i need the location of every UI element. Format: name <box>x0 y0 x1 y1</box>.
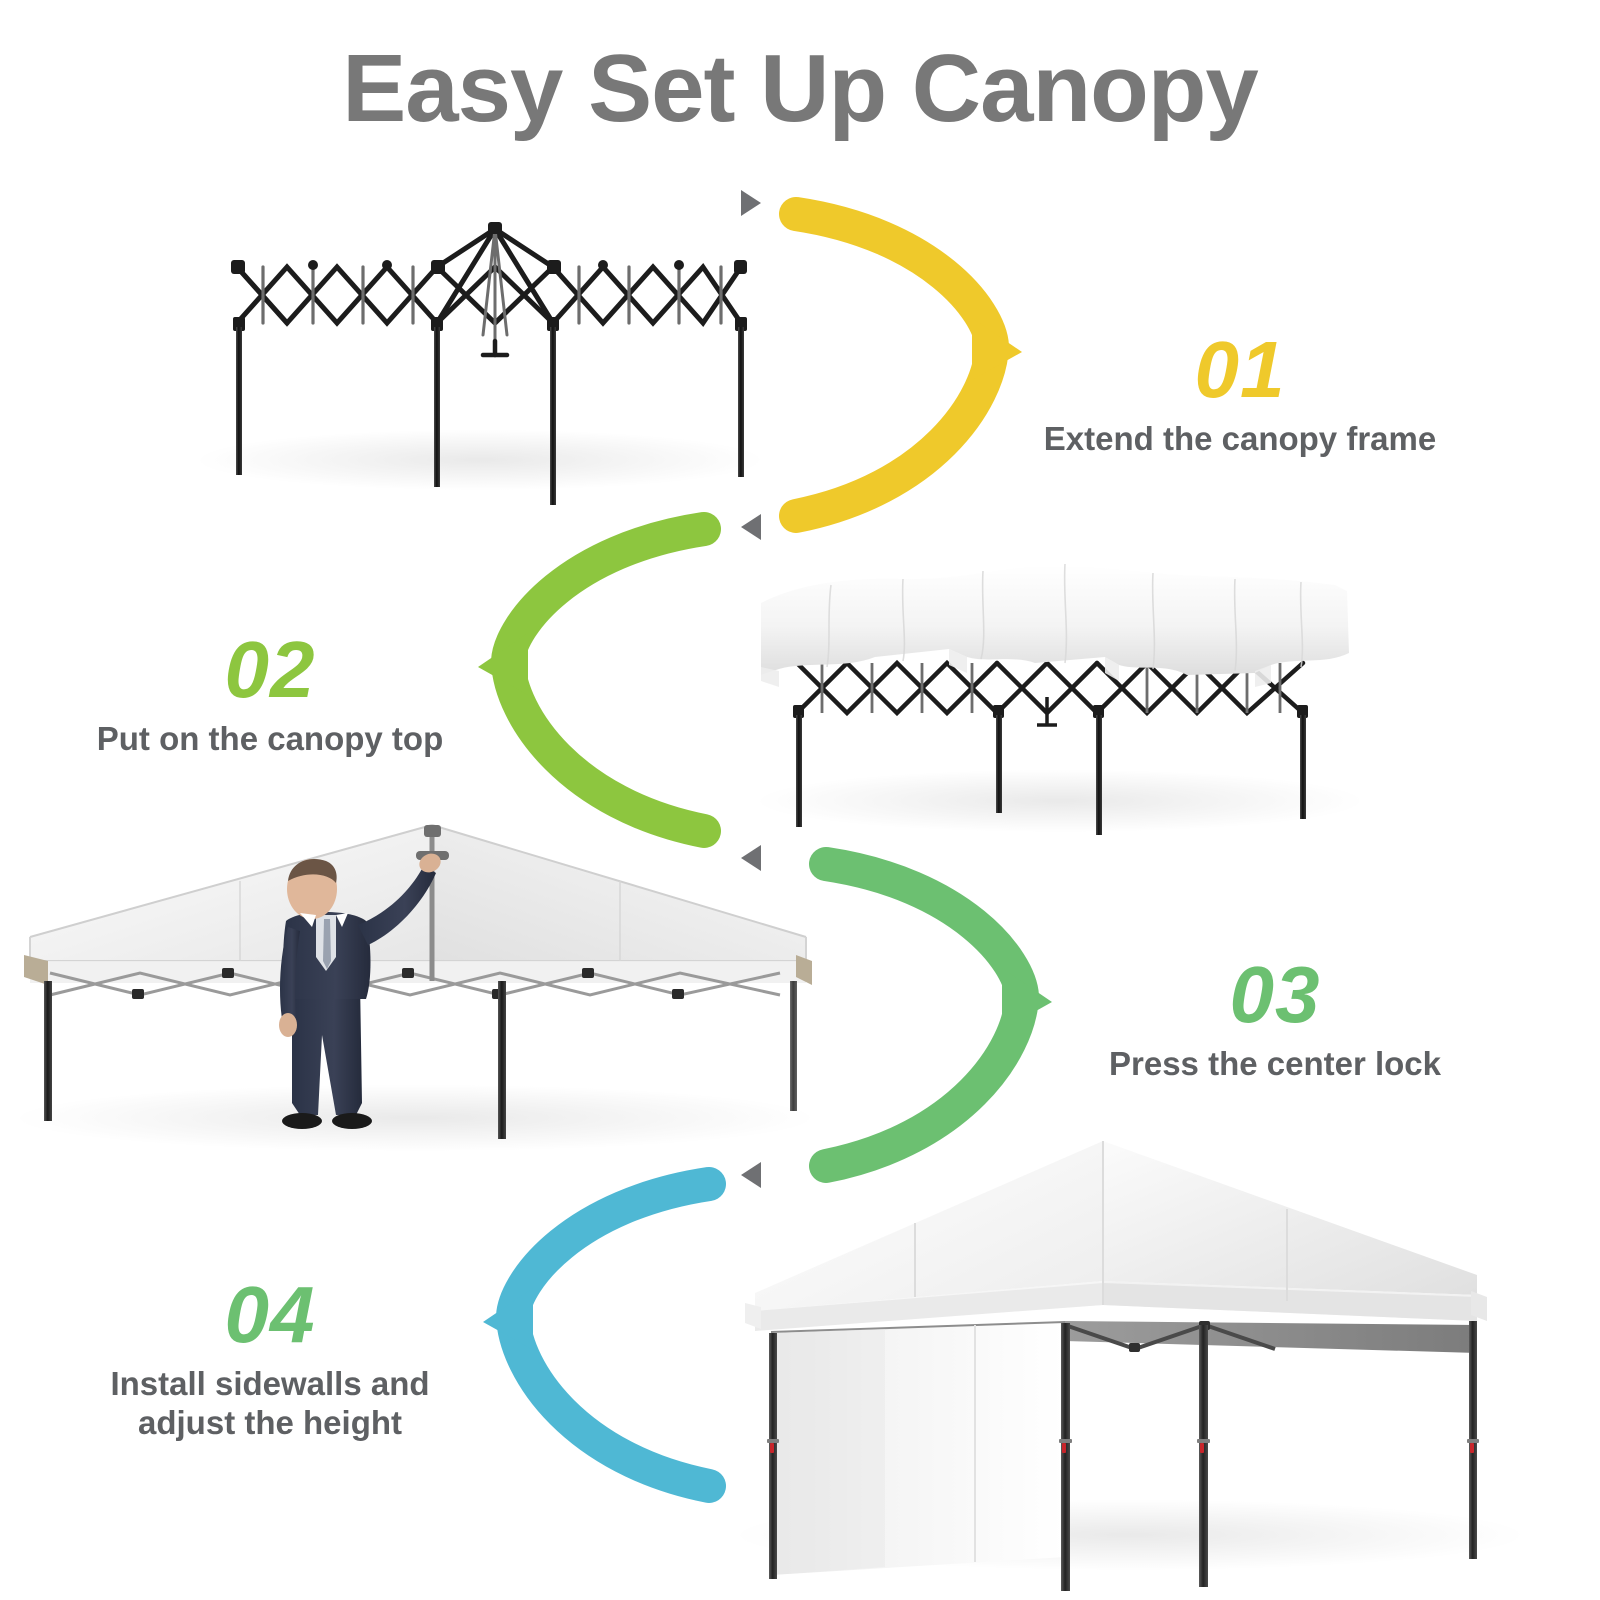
step-1-label: Extend the canopy frame <box>1000 420 1480 459</box>
step-2-label: Put on the canopy top <box>55 720 485 759</box>
step-4-arrow <box>485 1160 745 1510</box>
step-3-number: 03 <box>1060 955 1490 1035</box>
step-3-label: Press the center lock <box>1060 1045 1490 1084</box>
step-4-image-canopy-with-sidewall <box>735 1125 1525 1600</box>
triangle-marker-icon <box>741 514 761 540</box>
infographic-root: Easy Set Up Canopy <box>0 0 1600 1600</box>
step-4-number: 04 <box>45 1275 495 1355</box>
triangle-marker-icon <box>741 845 761 871</box>
step-1-number: 01 <box>1000 330 1480 410</box>
step-2-arrow <box>480 505 740 855</box>
step-1-image-canopy-frame <box>195 215 765 485</box>
step-2-text-block: 02 Put on the canopy top <box>55 630 485 759</box>
step-1-arrow <box>760 190 1020 540</box>
step-3-text-block: 03 Press the center lock <box>1060 955 1490 1084</box>
step-4-label-line-1: Install sidewalls and <box>45 1365 495 1404</box>
step-2-image-canopy-top-draped <box>735 545 1375 835</box>
step-4-label-line-2: adjust the height <box>45 1404 495 1443</box>
step-3-arrow <box>790 840 1050 1190</box>
page-title: Easy Set Up Canopy <box>0 34 1600 144</box>
step-4-label: Install sidewalls and adjust the height <box>45 1365 495 1443</box>
step-2-number: 02 <box>55 630 485 710</box>
triangle-marker-icon <box>741 1162 761 1188</box>
triangle-marker-icon <box>741 190 761 216</box>
step-1-text-block: 01 Extend the canopy frame <box>1000 330 1480 459</box>
step-4-text-block: 04 Install sidewalls and adjust the heig… <box>45 1275 495 1443</box>
